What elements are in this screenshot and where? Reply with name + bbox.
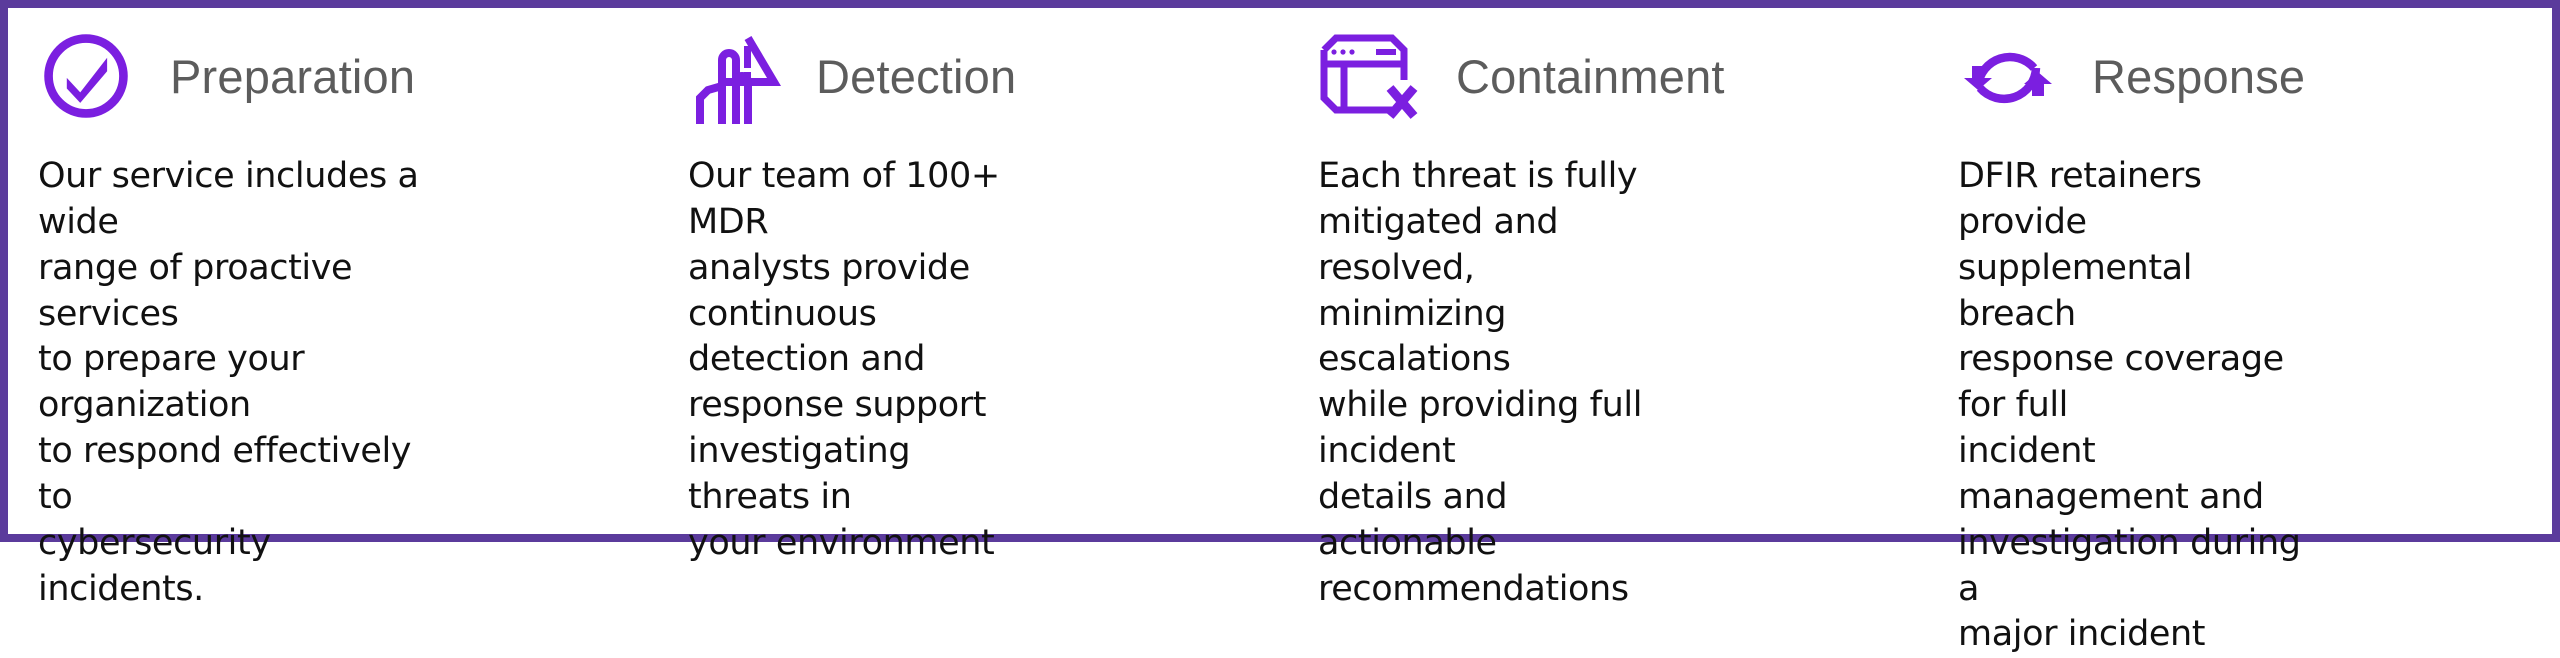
phase-columns: Preparation Our service includes a wide … [8,8,2552,534]
check-circle-icon [38,28,134,124]
phase-header-detection: Detection [688,22,1298,130]
phase-header-preparation: Preparation [38,22,658,130]
phase-header-response: Response [1958,22,2538,130]
browser-window-close-icon [1318,30,1418,122]
phase-description: Each threat is fully mitigated and resol… [1318,154,1690,612]
circular-arrows-refresh-icon [1958,30,2058,122]
phase-description: Our team of 100+ MDR analysts provide co… [688,154,1028,567]
phase-column-containment: Containment Each threat is fully mitigat… [1298,22,1938,534]
phase-column-response: Response DFIR retainers provide suppleme… [1938,22,2538,534]
phase-column-preparation: Preparation Our service includes a wide … [8,22,658,534]
hand-pointing-warning-triangle-icon [688,24,780,128]
phase-header-containment: Containment [1318,22,1938,130]
incident-response-phases-card: Preparation Our service includes a wide … [0,0,2560,542]
phase-title: Response [2092,53,2305,100]
phase-title: Detection [816,53,1016,100]
phase-title: Containment [1456,53,1725,100]
phase-description: Our service includes a wide range of pro… [38,154,438,612]
phase-column-detection: Detection Our team of 100+ MDR analysts … [658,22,1298,534]
phase-title: Preparation [170,53,415,100]
phase-description: DFIR retainers provide supplemental brea… [1958,154,2316,658]
